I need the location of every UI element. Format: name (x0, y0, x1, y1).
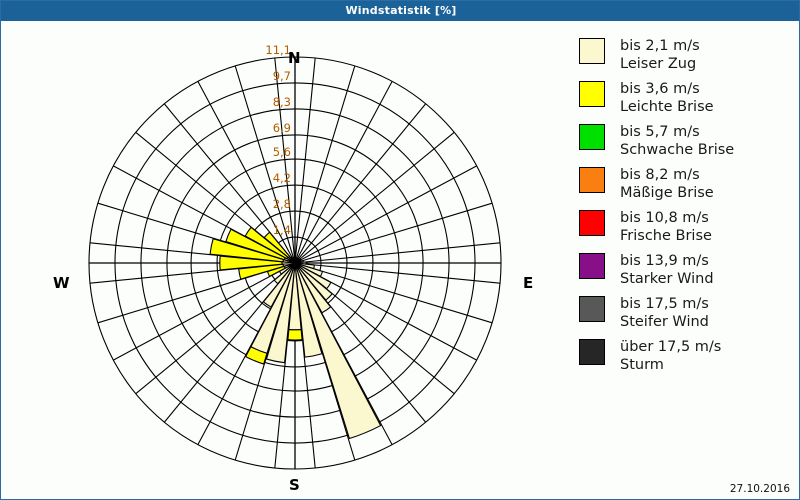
grid-spoke (295, 66, 355, 263)
legend-beaufort-name: Starker Wind (620, 270, 714, 288)
grid-spoke (295, 104, 426, 263)
compass-label-south: S (289, 476, 300, 494)
radial-tick-label: 6,9 (273, 121, 291, 135)
legend-beaufort-name: Leichte Brise (620, 98, 714, 116)
grid-spoke (295, 203, 492, 263)
legend-label: bis 8,2 m/sMäßige Brise (620, 166, 714, 202)
grid-spoke (295, 132, 454, 263)
legend-speed-range: bis 3,6 m/s (620, 81, 700, 97)
legend-label: über 17,5 m/sSturm (620, 338, 721, 374)
radial-tick-label: 5,6 (273, 145, 291, 159)
legend-speed-range: bis 17,5 m/s (620, 296, 709, 312)
radial-tick-label: 2,8 (273, 197, 291, 211)
legend-speed-range: bis 10,8 m/s (620, 210, 709, 226)
legend-color-swatch (579, 210, 605, 236)
radial-tick-label: 1,4 (273, 223, 291, 237)
legend: bis 2,1 m/sLeiser Zugbis 3,6 m/sLeichte … (579, 37, 794, 381)
legend-label: bis 2,1 m/sLeiser Zug (620, 37, 700, 73)
legend-color-swatch (579, 167, 605, 193)
windstatistik-window: Windstatistik [%] 1,42,84,25,66,98,39,71… (0, 0, 800, 500)
legend-beaufort-name: Steifer Wind (620, 313, 709, 331)
legend-speed-range: bis 2,1 m/s (620, 38, 700, 54)
legend-speed-range: bis 13,9 m/s (620, 253, 709, 269)
grid-spoke (295, 81, 392, 263)
wind-rose-svg: 1,42,84,25,66,98,39,711,1 (1, 21, 566, 499)
legend-speed-range: über 17,5 m/s (620, 339, 721, 355)
legend-beaufort-name: Leiser Zug (620, 55, 700, 73)
radial-tick-label: 8,3 (273, 95, 291, 109)
legend-item: bis 2,1 m/sLeiser Zug (579, 37, 794, 73)
legend-item: bis 17,5 m/sSteifer Wind (579, 295, 794, 331)
legend-beaufort-name: Sturm (620, 356, 721, 374)
date-stamp: 27.10.2016 (730, 483, 790, 495)
wind-rose-petal-segment (288, 330, 302, 340)
legend-label: bis 10,8 m/sFrische Brise (620, 209, 712, 245)
legend-beaufort-name: Frische Brise (620, 227, 712, 245)
legend-label: bis 3,6 m/sLeichte Brise (620, 80, 714, 116)
legend-beaufort-name: Mäßige Brise (620, 184, 714, 202)
legend-label: bis 13,9 m/sStarker Wind (620, 252, 714, 288)
wind-rose-plot: 1,42,84,25,66,98,39,711,1 N S W E (1, 21, 566, 499)
legend-item: bis 8,2 m/sMäßige Brise (579, 166, 794, 202)
window-title-bar: Windstatistik [%] (1, 1, 800, 21)
legend-color-swatch (579, 38, 605, 64)
legend-label: bis 5,7 m/sSchwache Brise (620, 123, 734, 159)
legend-item: bis 10,8 m/sFrische Brise (579, 209, 794, 245)
legend-color-swatch (579, 124, 605, 150)
radial-tick-label: 4,2 (273, 171, 291, 185)
compass-label-east: E (523, 274, 533, 292)
legend-label: bis 17,5 m/sSteifer Wind (620, 295, 709, 331)
legend-item: über 17,5 m/sSturm (579, 338, 794, 374)
grid-spoke (295, 166, 477, 263)
legend-beaufort-name: Schwache Brise (620, 141, 734, 159)
legend-speed-range: bis 5,7 m/s (620, 124, 700, 140)
legend-item: bis 5,7 m/sSchwache Brise (579, 123, 794, 159)
legend-item: bis 3,6 m/sLeichte Brise (579, 80, 794, 116)
compass-label-west: W (53, 274, 70, 292)
legend-color-swatch (579, 81, 605, 107)
legend-color-swatch (579, 296, 605, 322)
radial-axis-labels: 1,42,84,25,66,98,39,711,1 (265, 43, 291, 237)
radial-tick-label: 9,7 (273, 69, 291, 83)
window-title: Windstatistik [%] (345, 4, 456, 17)
compass-label-north: N (288, 49, 301, 67)
legend-speed-range: bis 8,2 m/s (620, 167, 700, 183)
legend-color-swatch (579, 339, 605, 365)
legend-item: bis 13,9 m/sStarker Wind (579, 252, 794, 288)
legend-color-swatch (579, 253, 605, 279)
